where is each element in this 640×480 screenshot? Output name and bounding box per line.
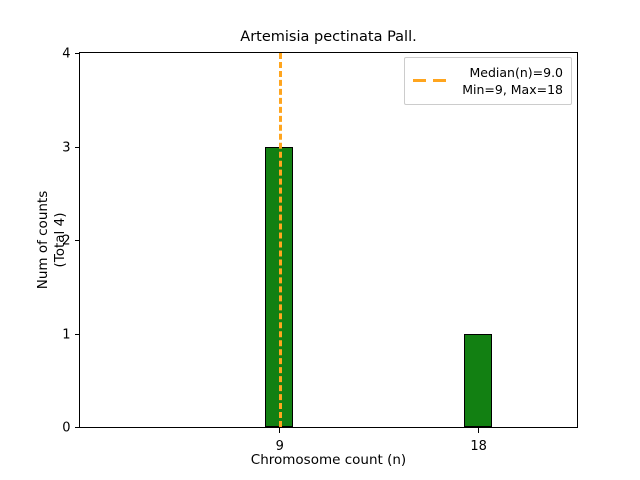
chart-title: Artemisia pectinata Pall. (79, 28, 578, 46)
legend-entry-median: Median(n)=9.0 Min=9, Max=18 (413, 64, 563, 98)
median-dashed-line-icon (413, 75, 449, 87)
y-axis-tick: 1 (75, 334, 81, 335)
y-axis-tick: 4 (75, 53, 81, 54)
plot-inner (80, 53, 577, 427)
chart-figure: Artemisia pectinata Pall. 01234918 Chrom… (0, 0, 640, 480)
y-axis-tick: 3 (75, 147, 81, 148)
y-axis-label-line1: Num of counts (35, 191, 52, 290)
x-axis-tick: 18 (478, 427, 479, 433)
x-axis-tick-label: 18 (470, 440, 487, 453)
y-axis-label: Num of counts (Total 4) (32, 52, 72, 428)
y-axis-tick: 2 (75, 240, 81, 241)
x-axis-tick-label: 9 (276, 440, 284, 453)
legend-label-median: Median(n)=9.0 (457, 64, 563, 81)
plot-area: 01234918 (79, 52, 578, 428)
x-axis-label: Chromosome count (n) (79, 452, 578, 468)
bar (464, 334, 492, 428)
y-axis-label-line2: (Total 4) (52, 191, 69, 290)
x-axis-tick: 9 (279, 427, 280, 433)
legend-label-minmax: Min=9, Max=18 (457, 81, 563, 98)
y-axis-tick: 0 (75, 427, 81, 428)
median-line (279, 53, 282, 427)
chart-legend: Median(n)=9.0 Min=9, Max=18 (404, 57, 572, 105)
